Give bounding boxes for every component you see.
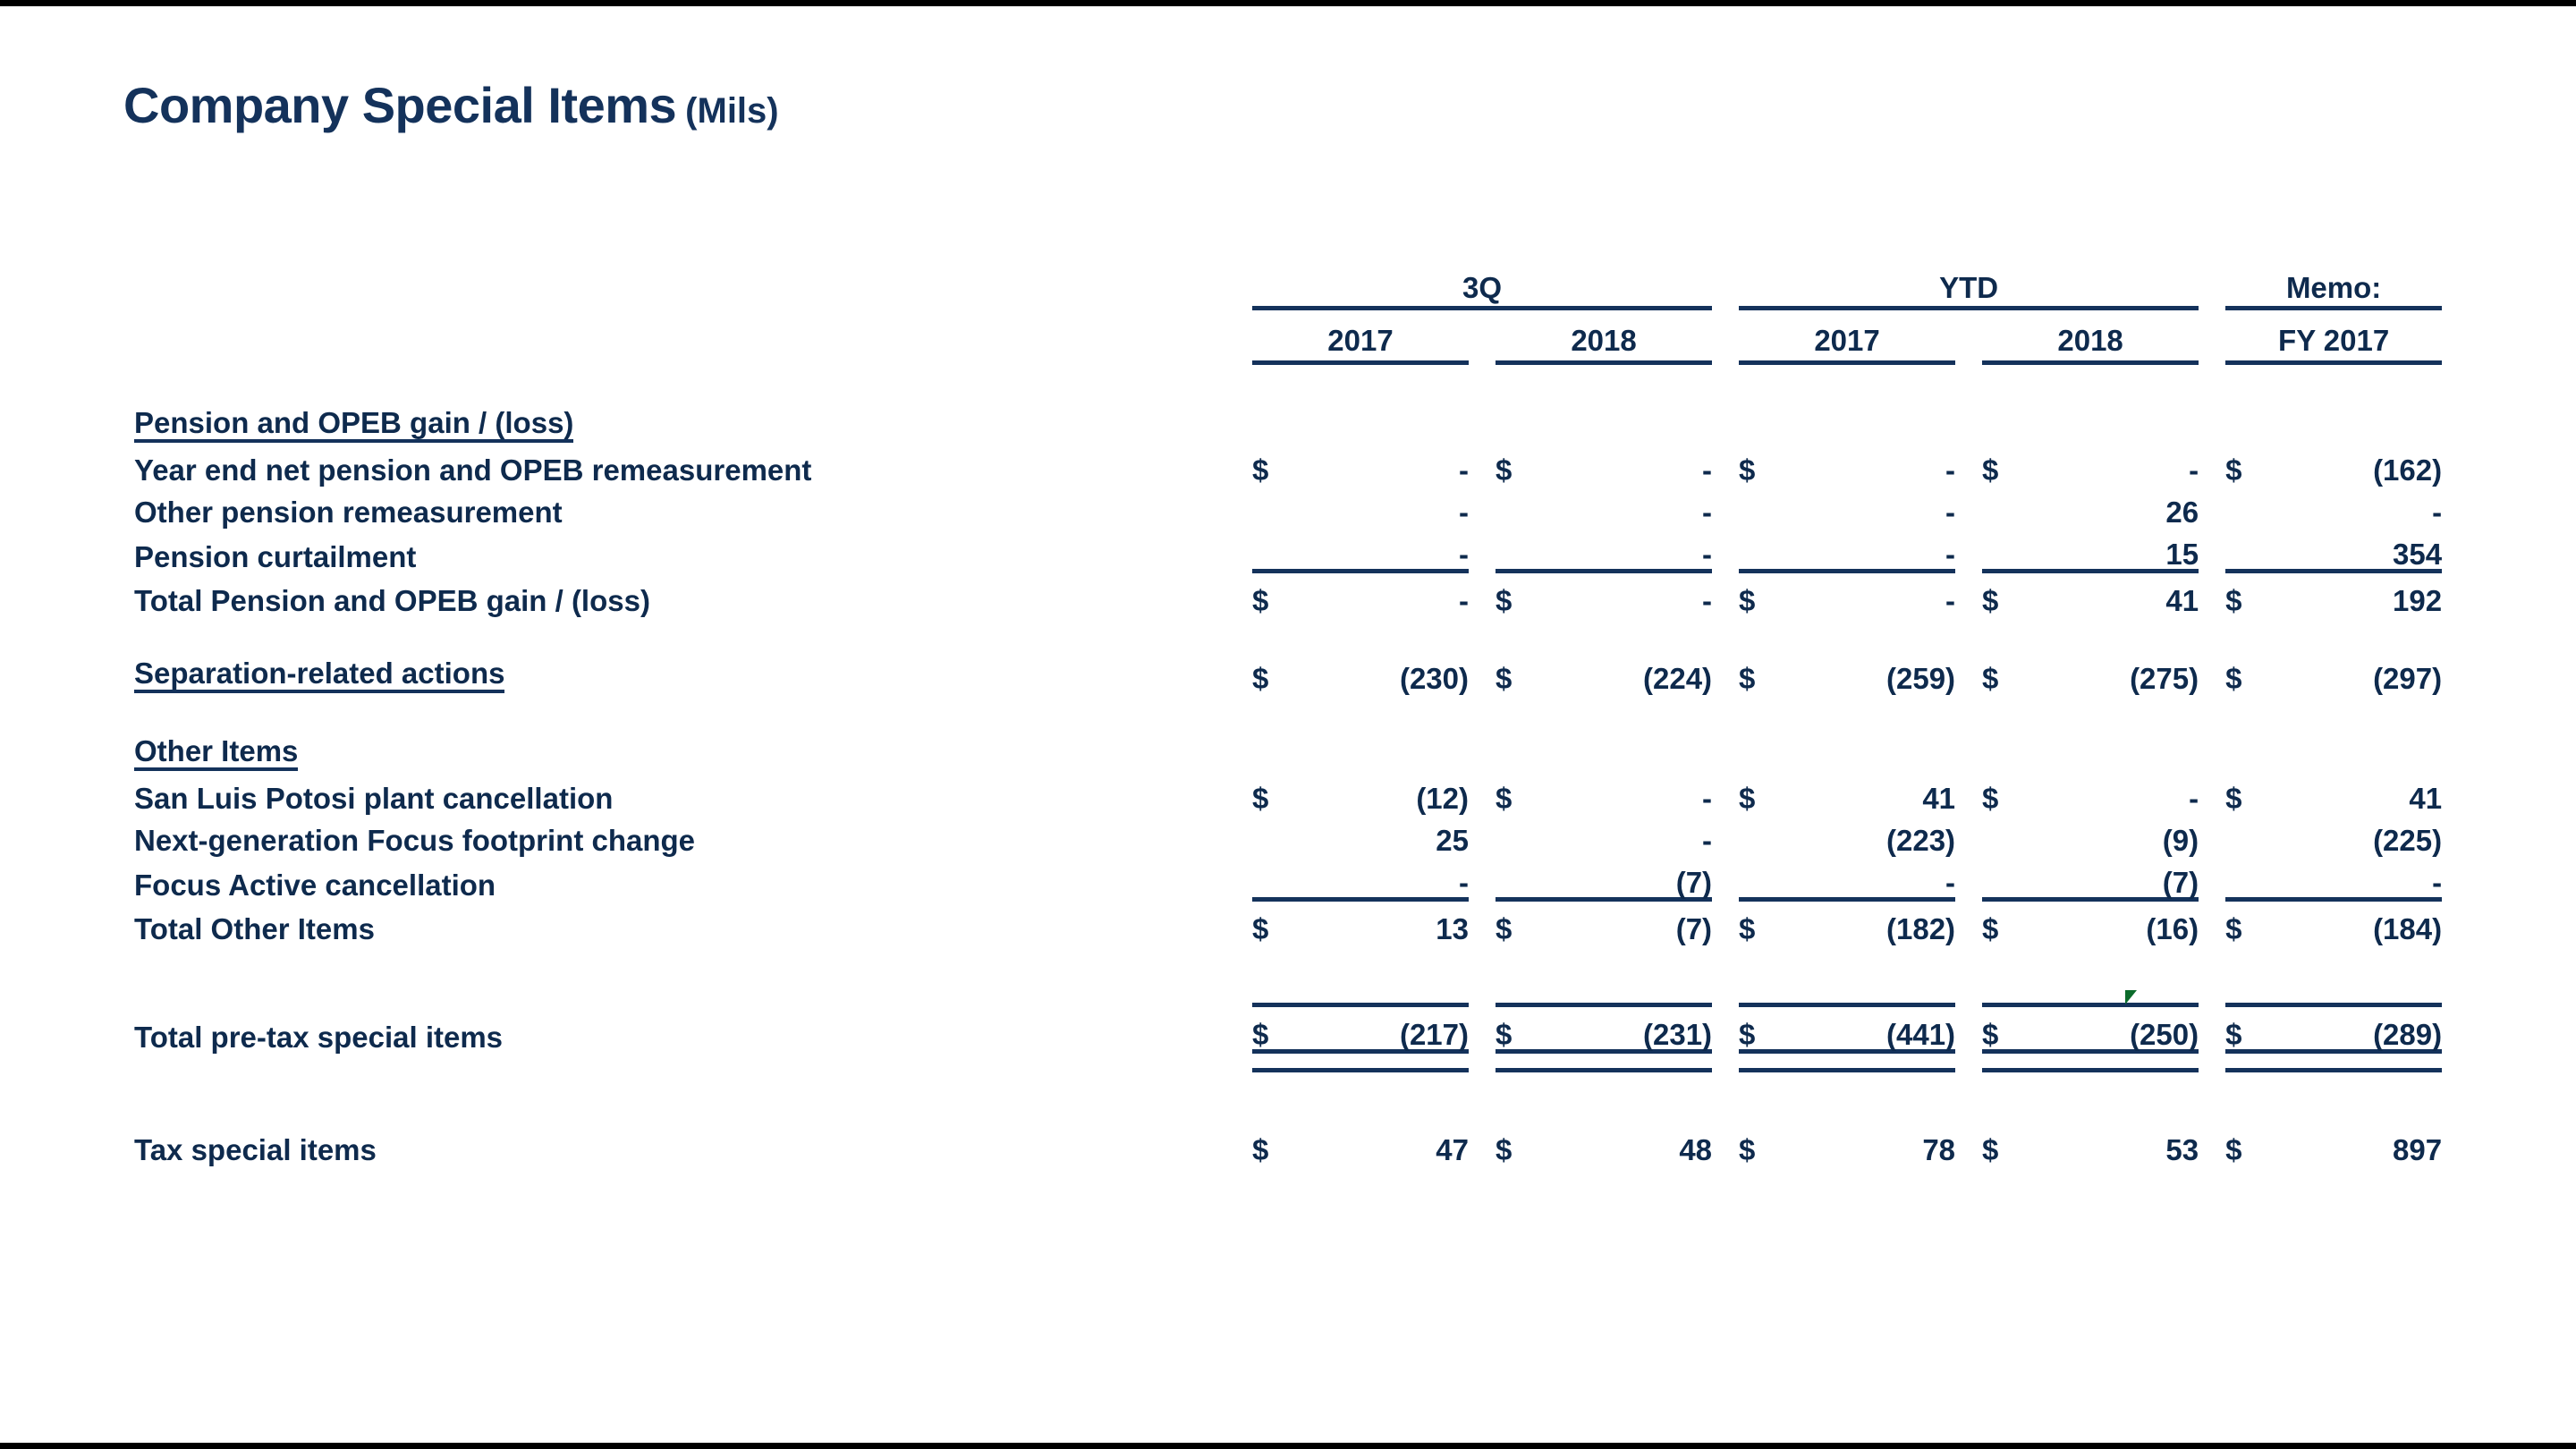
- row-currency: [2225, 485, 2277, 527]
- row-currency: $: [1496, 1123, 1547, 1165]
- row-currency: $: [2225, 443, 2277, 485]
- row-currency: [1982, 855, 2034, 900]
- spacer-cell: [1955, 651, 1982, 693]
- spacer-cell: [1469, 572, 1496, 616]
- rule-segment: [2277, 994, 2442, 1005]
- row-currency: $: [1739, 771, 1791, 813]
- row-value: 41: [2034, 572, 2199, 616]
- spacer-cell: [1712, 994, 1739, 1005]
- spacer-cell: [1163, 443, 1252, 485]
- table-row-separation: Separation-related actions $ (230) $ (22…: [134, 651, 2442, 693]
- spacer-cell: [1955, 309, 1982, 363]
- rule-segment: [1304, 994, 1469, 1005]
- spacer-cell: [1469, 1005, 1496, 1052]
- spacer-row: [134, 615, 2442, 651]
- table-row: San Luis Potosi plant cancellation $ (12…: [134, 771, 2442, 813]
- row-currency: [1739, 813, 1791, 855]
- row-currency: [1982, 527, 2034, 572]
- row-value: (182): [1791, 900, 1955, 945]
- column-header-ytd-2017: 2017: [1739, 309, 1955, 363]
- spacer-cell: [2199, 813, 2225, 855]
- row-value: (289): [2277, 1005, 2442, 1052]
- spacer-cell: [134, 944, 2442, 994]
- row-currency: $: [1982, 572, 2034, 616]
- spacer-cell: [2199, 1052, 2225, 1071]
- spacer-cell: [1955, 1123, 1982, 1165]
- section-heading-pension: Pension and OPEB gain / (loss): [134, 401, 1163, 443]
- row-value: -: [1547, 443, 1712, 485]
- row-currency: [1496, 485, 1547, 527]
- row-currency: [1739, 855, 1791, 900]
- table-row: Focus Active cancellation - (7) - (7) -: [134, 855, 2442, 900]
- spacer-cell: [1712, 485, 1739, 527]
- section-heading-row: Other Items: [134, 729, 2442, 771]
- row-currency: $: [1739, 1005, 1791, 1052]
- spacer-cell: [134, 261, 1163, 309]
- double-rule-segment: [1496, 1052, 1547, 1071]
- row-currency: $: [1982, 1005, 2034, 1052]
- row-currency: [1739, 527, 1791, 572]
- spacer-cell: [1163, 309, 1252, 363]
- column-header-3q-2017: 2017: [1252, 309, 1469, 363]
- spacer-row: [134, 693, 2442, 729]
- row-currency: $: [1252, 1123, 1304, 1165]
- row-value: 26: [2034, 485, 2199, 527]
- section-heading-separation-label: Separation-related actions: [134, 658, 504, 693]
- row-value: (230): [1304, 651, 1469, 693]
- row-currency: $: [1496, 651, 1547, 693]
- double-rule-segment: [1791, 1052, 1955, 1071]
- row-currency: [1252, 527, 1304, 572]
- spacer-cell: [1469, 651, 1496, 693]
- section-heading-row: Pension and OPEB gain / (loss): [134, 401, 2442, 443]
- spacer-cell: [1955, 572, 1982, 616]
- row-currency: $: [1252, 443, 1304, 485]
- row-label: Other pension remeasurement: [134, 485, 1163, 527]
- row-value: -: [1791, 855, 1955, 900]
- row-currency: $: [2225, 1005, 2277, 1052]
- spacer-cell: [2199, 771, 2225, 813]
- row-currency: [1739, 485, 1791, 527]
- row-value: -: [1791, 572, 1955, 616]
- table-group-header-row: 3Q YTD Memo:: [134, 261, 2442, 309]
- row-value: -: [1547, 813, 1712, 855]
- spacer-cell: [1163, 651, 1252, 693]
- row-value: -: [1547, 771, 1712, 813]
- row-currency: $: [1739, 1123, 1791, 1165]
- spacer-row: [134, 363, 2442, 402]
- row-currency: [1982, 813, 2034, 855]
- row-currency: $: [1496, 900, 1547, 945]
- bottom-black-bar: [0, 1443, 2576, 1449]
- row-currency: $: [1252, 572, 1304, 616]
- row-value: -: [1304, 527, 1469, 572]
- row-currency: $: [1252, 1005, 1304, 1052]
- spacer-cell: [134, 615, 2442, 651]
- title-units-text: (Mils): [685, 91, 778, 131]
- row-value: 354: [2277, 527, 2442, 572]
- group-header-ytd: YTD: [1739, 261, 2199, 309]
- row-currency: [2225, 813, 2277, 855]
- row-currency: $: [1496, 443, 1547, 485]
- spacer-cell: [2199, 1123, 2225, 1165]
- grand-total-rule-row: [134, 994, 2442, 1005]
- section-heading-other-items: Other Items: [134, 729, 1163, 771]
- spacer-cell: [2199, 994, 2225, 1005]
- row-currency: [1496, 527, 1547, 572]
- row-value: 41: [1791, 771, 1955, 813]
- row-value: -: [1304, 855, 1469, 900]
- row-value: 48: [1547, 1123, 1712, 1165]
- spacer-cell: [1163, 1005, 1252, 1052]
- spacer-cell: [1712, 527, 1739, 572]
- row-currency: $: [2225, 572, 2277, 616]
- special-items-table: 3Q YTD Memo: 2017 2018 2017 2018: [134, 261, 2442, 1165]
- spacer-cell: [1712, 1005, 1739, 1052]
- spacer-cell: [2199, 572, 2225, 616]
- special-items-table-wrapper: 3Q YTD Memo: 2017 2018 2017 2018: [134, 261, 2424, 1165]
- row-value: (7): [1547, 855, 1712, 900]
- row-value: -: [2034, 771, 2199, 813]
- green-triangle-artifact: [2125, 990, 2137, 1004]
- row-currency: [2225, 527, 2277, 572]
- spacer-cell: [2199, 485, 2225, 527]
- row-currency: $: [1739, 651, 1791, 693]
- row-value: 41: [2277, 771, 2442, 813]
- row-value: (184): [2277, 900, 2442, 945]
- row-currency: $: [1496, 771, 1547, 813]
- spacer-cell: [1163, 527, 1252, 572]
- row-value: -: [2277, 485, 2442, 527]
- spacer-cell: [134, 1052, 1163, 1071]
- row-value: (12): [1304, 771, 1469, 813]
- row-value: 25: [1304, 813, 1469, 855]
- table-row: Next-generation Focus footprint change 2…: [134, 813, 2442, 855]
- slide-canvas: Company Special Items(Mils) 3Q Y: [0, 6, 2576, 1443]
- spacer-cell: [1955, 527, 1982, 572]
- table-row-subtotal: Total Other Items $ 13 $ (7) $ (182) $ (…: [134, 900, 2442, 945]
- row-value: -: [1304, 572, 1469, 616]
- rule-segment: [2225, 994, 2277, 1005]
- spacer-cell: [1469, 443, 1496, 485]
- row-label: Focus Active cancellation: [134, 855, 1163, 900]
- row-currency: [2225, 855, 2277, 900]
- row-value: (7): [2034, 855, 2199, 900]
- row-value: -: [1547, 572, 1712, 616]
- spacer-cell: [2199, 443, 2225, 485]
- grand-total-double-rule-row: [134, 1052, 2442, 1071]
- row-currency: $: [1982, 771, 2034, 813]
- row-value: 897: [2277, 1123, 2442, 1165]
- row-label: Next-generation Focus footprint change: [134, 813, 1163, 855]
- row-value: 53: [2034, 1123, 2199, 1165]
- row-value: (16): [2034, 900, 2199, 945]
- row-currency: $: [2225, 900, 2277, 945]
- row-currency: [1982, 485, 2034, 527]
- spacer-row: [134, 944, 2442, 994]
- top-black-bar: [0, 0, 2576, 6]
- row-currency: $: [1739, 443, 1791, 485]
- group-header-memo: Memo:: [2225, 261, 2442, 309]
- row-value: -: [2277, 855, 2442, 900]
- spacer-cell: [2199, 1005, 2225, 1052]
- spacer-cell: [1163, 994, 1252, 1005]
- spacer-cell: [1712, 771, 1739, 813]
- double-rule-segment: [2225, 1052, 2277, 1071]
- spacer-cell: [1955, 1052, 1982, 1071]
- rule-segment: [1982, 994, 2034, 1005]
- column-header-3q-2018: 2018: [1496, 309, 1712, 363]
- group-header-3q: 3Q: [1252, 261, 1712, 309]
- row-value: -: [1547, 485, 1712, 527]
- rule-segment: [1496, 994, 1547, 1005]
- spacer-cell: [1469, 855, 1496, 900]
- row-currency: $: [1739, 900, 1791, 945]
- row-currency: $: [1982, 443, 2034, 485]
- section-heading-other-items-label: Other Items: [134, 736, 298, 771]
- rule-segment: [2034, 994, 2199, 1005]
- row-value: -: [1304, 443, 1469, 485]
- row-value: 78: [1791, 1123, 1955, 1165]
- row-currency: [1496, 813, 1547, 855]
- double-rule-segment: [2034, 1052, 2199, 1071]
- spacer-cell: [2199, 651, 2225, 693]
- row-currency: $: [1982, 900, 2034, 945]
- spacer-cell: [1469, 994, 1496, 1005]
- spacer-cell: [134, 363, 2442, 402]
- spacer-cell: [1469, 813, 1496, 855]
- row-currency: $: [1739, 572, 1791, 616]
- spacer-cell: [1955, 1005, 1982, 1052]
- spacer-cell: [1712, 261, 1739, 309]
- title-main-text: Company Special Items: [123, 77, 676, 133]
- row-value: (162): [2277, 443, 2442, 485]
- row-currency: $: [2225, 1123, 2277, 1165]
- row-label: Tax special items: [134, 1123, 1163, 1165]
- spacer-cell: [1163, 855, 1252, 900]
- spacer-cell: [1469, 771, 1496, 813]
- row-value: 192: [2277, 572, 2442, 616]
- row-currency: $: [1982, 651, 2034, 693]
- row-label: Total Pension and OPEB gain / (loss): [134, 572, 1163, 616]
- row-value: (223): [1791, 813, 1955, 855]
- table-row-subtotal: Total Pension and OPEB gain / (loss) $ -…: [134, 572, 2442, 616]
- rule-segment: [1547, 994, 1712, 1005]
- spacer-cell: [1712, 1052, 1739, 1071]
- row-currency: $: [1252, 900, 1304, 945]
- row-value: 15: [2034, 527, 2199, 572]
- spacer-cell: [1469, 1052, 1496, 1071]
- spacer-cell: [1163, 1123, 1252, 1165]
- double-rule-segment: [1547, 1052, 1712, 1071]
- row-value: -: [1304, 485, 1469, 527]
- table-row-grand-total: Total pre-tax special items $ (217) $ (2…: [134, 1005, 2442, 1052]
- spacer-cell: [1469, 485, 1496, 527]
- row-value: (231): [1547, 1005, 1712, 1052]
- spacer-cell: [2199, 261, 2225, 309]
- spacer-cell: [1955, 855, 1982, 900]
- spacer-cell: [2199, 900, 2225, 945]
- row-value: (9): [2034, 813, 2199, 855]
- spacer-cell: [1163, 771, 1252, 813]
- spacer-cell: [2199, 527, 2225, 572]
- row-value: -: [1791, 485, 1955, 527]
- row-value: (7): [1547, 900, 1712, 945]
- rule-segment: [1739, 994, 1791, 1005]
- spacer-cell: [1469, 900, 1496, 945]
- double-rule-segment: [1982, 1052, 2034, 1071]
- table-row: Year end net pension and OPEB remeasurem…: [134, 443, 2442, 485]
- row-value: (250): [2034, 1005, 2199, 1052]
- row-value: (275): [2034, 651, 2199, 693]
- spacer-cell: [1712, 1123, 1739, 1165]
- table-row-tax: Tax special items $ 47 $ 48 $ 78 $ 53 $ …: [134, 1123, 2442, 1165]
- row-currency: [1496, 855, 1547, 900]
- row-value: 13: [1304, 900, 1469, 945]
- spacer-cell: [1955, 443, 1982, 485]
- section-heading-separation: Separation-related actions: [134, 651, 1163, 693]
- row-currency: [1252, 485, 1304, 527]
- row-value: -: [1791, 527, 1955, 572]
- spacer-cell: [134, 994, 1163, 1005]
- column-header-fy-2017: FY 2017: [2225, 309, 2442, 363]
- row-value: -: [1791, 443, 1955, 485]
- spacer-cell: [134, 309, 1163, 363]
- page-title: Company Special Items(Mils): [123, 76, 779, 134]
- spacer-cell: [2199, 309, 2225, 363]
- table-row: Other pension remeasurement - - - 26 -: [134, 485, 2442, 527]
- row-value: (297): [2277, 651, 2442, 693]
- spacer-cell: [1712, 855, 1739, 900]
- row-value: (225): [2277, 813, 2442, 855]
- row-value: (224): [1547, 651, 1712, 693]
- spacer-cell: [134, 1071, 2442, 1123]
- rule-segment: [1252, 994, 1304, 1005]
- row-currency: $: [1982, 1123, 2034, 1165]
- spacer-cell: [1955, 813, 1982, 855]
- spacer-cell: [1712, 651, 1739, 693]
- row-value: (259): [1791, 651, 1955, 693]
- spacer-cell: [1469, 309, 1496, 363]
- spacer-cell: [1163, 572, 1252, 616]
- double-rule-segment: [1739, 1052, 1791, 1071]
- spacer-cell: [1469, 1123, 1496, 1165]
- spacer-cell: [1955, 485, 1982, 527]
- double-rule-segment: [1252, 1052, 1304, 1071]
- row-currency: $: [1496, 1005, 1547, 1052]
- spacer-cell: [1163, 1052, 1252, 1071]
- column-header-ytd-2018: 2018: [1982, 309, 2199, 363]
- row-value: (217): [1304, 1005, 1469, 1052]
- spacer-row: [134, 1071, 2442, 1123]
- spacer-cell: [1712, 900, 1739, 945]
- row-value: -: [1547, 527, 1712, 572]
- rule-segment: [1791, 994, 1955, 1005]
- spacer-cell: [1469, 527, 1496, 572]
- spacer-cell: [1712, 309, 1739, 363]
- row-label: Total pre-tax special items: [134, 1005, 1163, 1052]
- spacer-cell: [134, 693, 2442, 729]
- spacer-cell: [1712, 572, 1739, 616]
- row-currency: $: [1252, 771, 1304, 813]
- row-currency: [1252, 855, 1304, 900]
- row-label: San Luis Potosi plant cancellation: [134, 771, 1163, 813]
- double-rule-segment: [2277, 1052, 2442, 1071]
- spacer-cell: [1163, 401, 2442, 443]
- row-currency: $: [1496, 572, 1547, 616]
- spacer-cell: [1955, 994, 1982, 1005]
- row-value: (441): [1791, 1005, 1955, 1052]
- spacer-cell: [1712, 443, 1739, 485]
- row-label: Pension curtailment: [134, 527, 1163, 572]
- spacer-cell: [2199, 855, 2225, 900]
- spacer-cell: [1163, 729, 2442, 771]
- spacer-cell: [1163, 813, 1252, 855]
- row-currency: [1252, 813, 1304, 855]
- spacer-cell: [1955, 900, 1982, 945]
- row-currency: $: [2225, 771, 2277, 813]
- spacer-cell: [1712, 813, 1739, 855]
- row-value: 47: [1304, 1123, 1469, 1165]
- spacer-cell: [1163, 900, 1252, 945]
- row-label: Total Other Items: [134, 900, 1163, 945]
- row-value: -: [2034, 443, 2199, 485]
- row-currency: $: [1252, 651, 1304, 693]
- table-row: Pension curtailment - - - 15 354: [134, 527, 2442, 572]
- row-currency: $: [2225, 651, 2277, 693]
- double-rule-segment: [1304, 1052, 1469, 1071]
- row-label: Year end net pension and OPEB remeasurem…: [134, 443, 1163, 485]
- spacer-cell: [1955, 771, 1982, 813]
- spacer-cell: [1163, 261, 1252, 309]
- table-column-header-row: 2017 2018 2017 2018 FY 2017: [134, 309, 2442, 363]
- spacer-cell: [1163, 485, 1252, 527]
- section-heading-pension-label: Pension and OPEB gain / (loss): [134, 408, 573, 443]
